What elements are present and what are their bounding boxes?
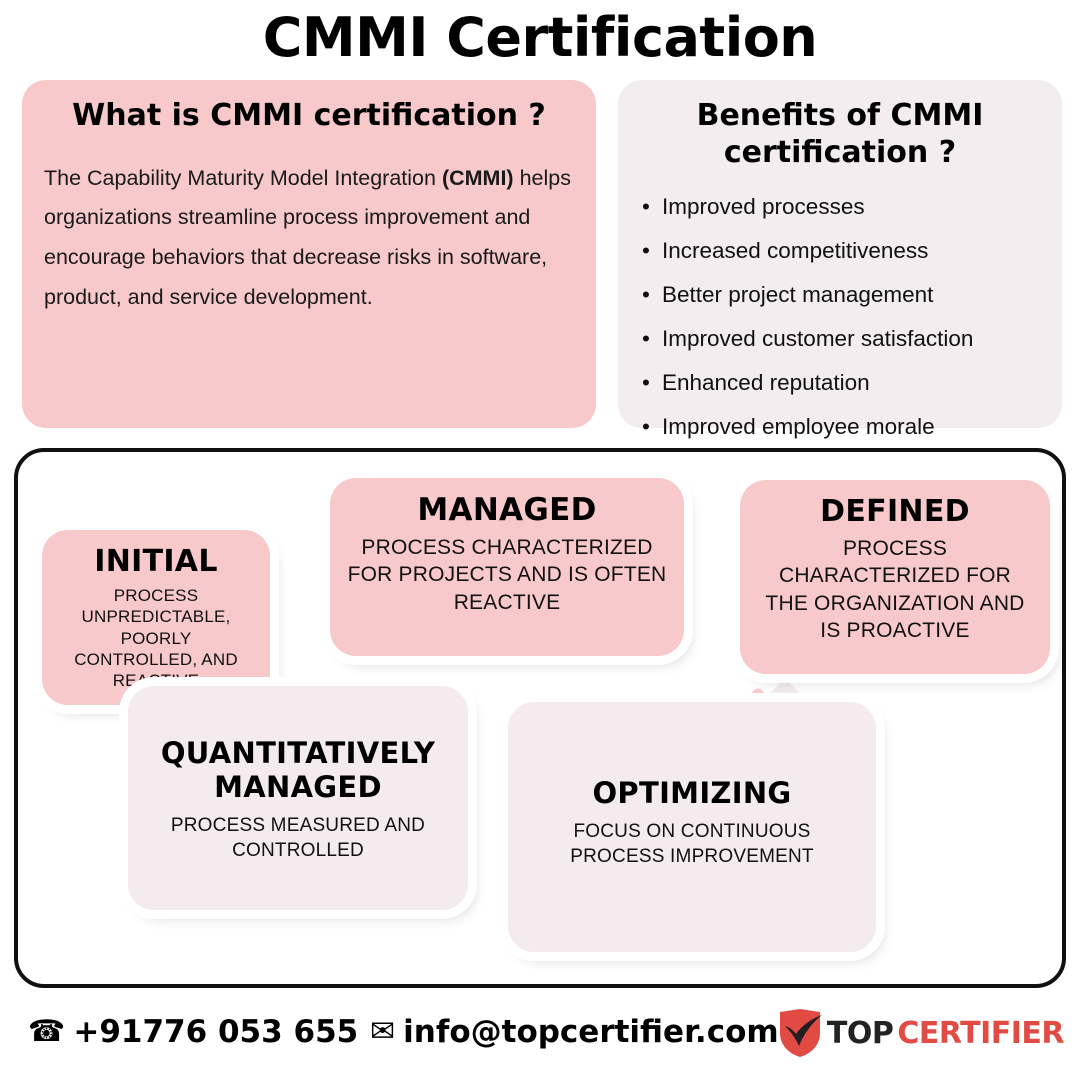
benefit-label: Better project management [662,282,933,307]
panel-benefits-heading: Benefits of CMMI certification ? [640,98,1040,171]
phone-icon: ☎ [28,1017,65,1047]
bubble-title: MANAGED [346,492,668,528]
logo-text-certifier: CERTIFIER [897,1016,1064,1051]
bullet-icon: • [642,273,650,317]
envelope-icon: ✉ [370,1017,395,1047]
panel-what-body: The Capability Maturity Model Integratio… [44,159,574,318]
benefits-list: •Improved processes •Increased competiti… [640,185,1040,448]
bubble-title: QUANTITATIVELY MANAGED [144,736,452,804]
page-title: CMMI Certification [0,6,1080,69]
list-item: •Improved processes [640,185,1040,229]
list-item: •Better project management [640,273,1040,317]
maturity-bubble-initial[interactable]: INITIAL PROCESS UNPREDICTABLE, POORLY CO… [42,530,270,705]
email-address: info@topcertifier.com [403,1014,779,1050]
panel-what-heading: What is CMMI certification ? [44,98,574,135]
panel-what-is-cmmi: What is CMMI certification ? The Capabil… [22,80,596,428]
maturity-bubble-defined[interactable]: DEFINED PROCESS CHARACTERIZED FOR THE OR… [740,480,1050,674]
bullet-icon: • [642,317,650,361]
maturity-bubble-optimizing[interactable]: OPTIMIZING FOCUS ON CONTINUOUS PROCESS I… [508,702,876,952]
body-bold-cmmi: (CMMI) [442,166,514,190]
benefit-label: Improved customer satisfaction [662,326,973,351]
bubble-description: PROCESS MEASURED AND CONTROLLED [144,814,452,863]
list-item: •Enhanced reputation [640,361,1040,405]
bubble-title: INITIAL [58,544,254,579]
bubble-description: PROCESS CHARACTERIZED FOR PROJECTS AND I… [346,534,668,616]
topcertifier-logo[interactable]: TOP CERTIFIER [777,1008,1064,1058]
bubble-title: DEFINED [756,494,1034,529]
body-pre: The Capability Maturity Model Integratio… [44,166,442,190]
list-item: •Improved employee morale [640,405,1040,449]
list-item: •Increased competitiveness [640,229,1040,273]
shield-check-icon [777,1008,823,1058]
list-item: •Improved customer satisfaction [640,317,1040,361]
panel-benefits: Benefits of CMMI certification ? •Improv… [618,80,1062,428]
benefit-label: Improved processes [662,194,865,219]
bullet-icon: • [642,229,650,273]
bubble-title: OPTIMIZING [524,776,860,810]
maturity-bubble-managed[interactable]: MANAGED PROCESS CHARACTERIZED FOR PROJEC… [330,478,684,656]
footer-email[interactable]: ✉ info@topcertifier.com [370,1014,779,1050]
benefit-label: Enhanced reputation [662,370,870,395]
footer: ☎ +91776 053 655 ✉ info@topcertifier.com… [0,1000,1080,1080]
phone-number: +91776 053 655 [73,1014,358,1050]
benefit-label: Increased competitiveness [662,238,928,263]
bubble-description: PROCESS CHARACTERIZED FOR THE ORGANIZATI… [756,535,1034,644]
bullet-icon: • [642,361,650,405]
infographic-page: CMMI Certification What is CMMI certific… [0,0,1080,1080]
bubble-description: PROCESS UNPREDICTABLE, POORLY CONTROLLED… [58,585,254,691]
bullet-icon: • [642,405,650,449]
maturity-bubble-quantitatively-managed[interactable]: QUANTITATIVELY MANAGED PROCESS MEASURED … [128,686,468,910]
logo-text-top: TOP [827,1016,893,1051]
bullet-icon: • [642,185,650,229]
footer-phone[interactable]: ☎ +91776 053 655 [28,1014,358,1050]
bubble-description: FOCUS ON CONTINUOUS PROCESS IMPROVEMENT [524,820,860,869]
benefit-label: Improved employee morale [662,414,935,439]
